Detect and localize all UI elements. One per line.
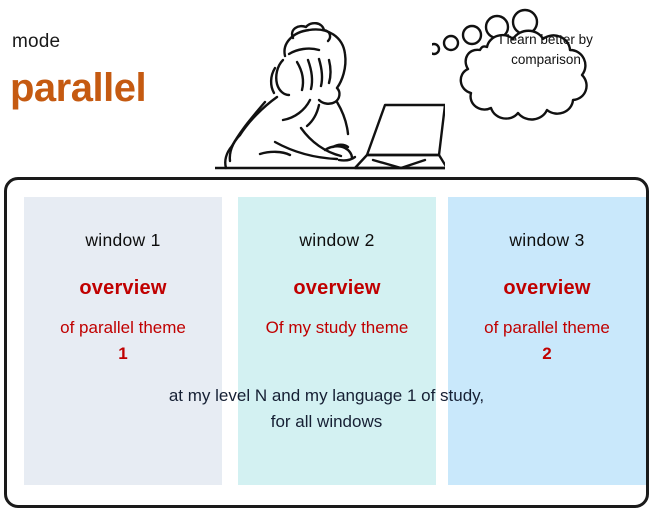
window-3-description: of parallel theme 2 <box>448 316 646 367</box>
window-panel-3[interactable]: window 3 overview of parallel theme 2 <box>448 197 646 485</box>
window-3-label: window 3 <box>448 232 646 250</box>
window-1-description-text: of parallel theme <box>60 318 186 337</box>
window-3-description-text: of parallel theme <box>484 318 610 337</box>
window-2-heading: overview <box>238 278 436 298</box>
person-thinking-at-laptop-icon <box>215 2 445 177</box>
window-1-label: window 1 <box>24 232 222 250</box>
window-3-heading: overview <box>448 278 646 298</box>
window-3-number: 2 <box>454 342 640 367</box>
window-2-label: window 2 <box>238 232 436 250</box>
mode-label: mode <box>12 32 60 51</box>
window-panel-2-content: window 2 overview Of my study theme <box>238 197 436 342</box>
window-1-description: of parallel theme 1 <box>24 316 222 367</box>
thought-cloud-icon: I learn better by comparison <box>432 2 656 134</box>
header: mode parallel <box>0 0 656 177</box>
window-1-number: 1 <box>30 342 216 367</box>
window-panel-1[interactable]: window 1 overview of parallel theme 1 <box>24 197 222 485</box>
window-2-description: Of my study theme <box>238 316 436 341</box>
mode-value: parallel <box>10 68 146 108</box>
window-1-heading: overview <box>24 278 222 298</box>
window-panel-3-content: window 3 overview of parallel theme 2 <box>448 197 646 367</box>
window-2-description-text: Of my study theme <box>266 318 409 337</box>
thought-bubble-text: I learn better by comparison <box>476 30 616 69</box>
window-panel-2[interactable]: window 2 overview Of my study theme <box>238 197 436 485</box>
windows-container: window 1 overview of parallel theme 1 wi… <box>4 177 649 508</box>
window-panel-1-content: window 1 overview of parallel theme 1 <box>24 197 222 367</box>
